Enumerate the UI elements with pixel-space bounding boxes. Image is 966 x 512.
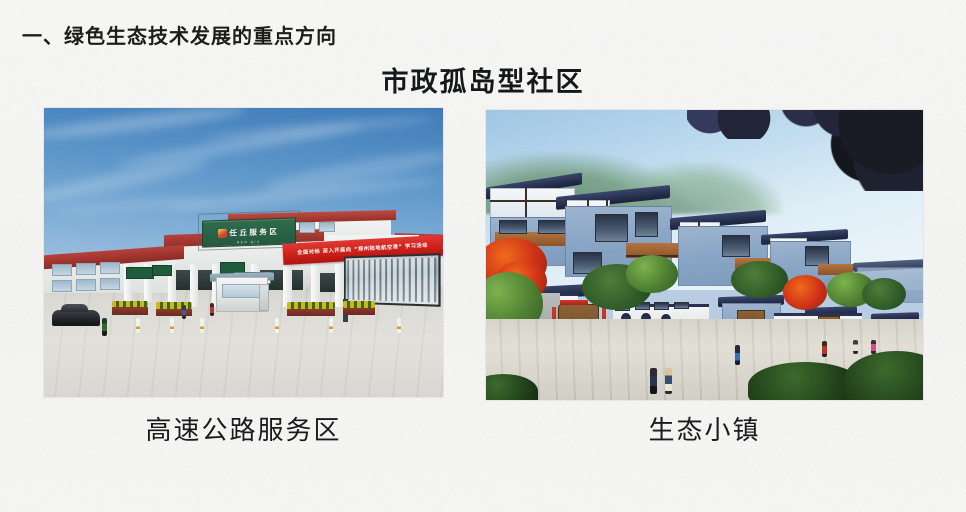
shop-sign — [152, 265, 172, 277]
cloud — [204, 114, 435, 143]
bollard — [170, 318, 174, 333]
window — [76, 279, 96, 291]
guard-booth-door — [259, 284, 269, 311]
window — [319, 222, 335, 233]
red-couplet-header — [560, 300, 588, 305]
service-area-sign: 任丘服务区 REN QIU — [202, 218, 296, 248]
column — [311, 264, 319, 307]
caption-highway-service-area: 高速公路服务区 — [44, 410, 443, 447]
pedestrian — [871, 340, 876, 354]
maple-tree — [783, 275, 827, 310]
shop-sign — [126, 267, 154, 279]
pedestrian — [822, 341, 827, 357]
caption-eco-town: 生态小镇 — [486, 410, 923, 447]
pedestrian-couple — [665, 368, 672, 394]
flower-bed — [112, 301, 148, 308]
column — [190, 264, 198, 307]
pedestrian — [210, 303, 214, 316]
bollard — [275, 318, 279, 333]
window — [52, 264, 72, 276]
pedestrian — [853, 340, 858, 354]
billboard — [344, 254, 440, 308]
service-area-sign-pinyin: REN QIU — [203, 238, 295, 245]
pedestrian — [102, 318, 107, 337]
planter — [156, 309, 192, 317]
wall-decor — [654, 302, 669, 310]
wall-decor — [674, 302, 689, 310]
villa-window — [595, 214, 628, 242]
bollard — [397, 318, 401, 333]
pedestrian — [735, 345, 740, 365]
villa-window — [722, 235, 750, 257]
tree — [731, 261, 788, 299]
foreground-tree-canopy — [687, 110, 801, 139]
bollard — [136, 318, 140, 333]
bollard — [200, 318, 204, 333]
window — [52, 280, 72, 292]
parked-car — [52, 310, 100, 326]
figure-highway-service-area: 任丘服务区 REN QIU 全面对标 深入开展向 “郑州陆地航空港” 学习活动 — [44, 108, 443, 397]
page-title: 市政孤岛型社区 — [0, 60, 966, 99]
flower-bed — [287, 302, 335, 309]
figure-eco-town — [486, 110, 923, 400]
flower-bed — [343, 301, 375, 308]
bollard — [329, 318, 333, 333]
timber-beam — [525, 188, 527, 217]
planter — [343, 307, 375, 315]
column — [283, 264, 291, 307]
tree — [862, 278, 906, 310]
pedestrian-couple — [650, 368, 657, 394]
section-title: 一、绿色生态技术发展的重点方向 — [22, 20, 337, 49]
window — [100, 278, 120, 290]
guard-booth-window — [222, 284, 262, 298]
villa-window — [635, 212, 659, 237]
planter — [112, 307, 148, 315]
flower-bed — [156, 302, 192, 309]
planter — [287, 309, 335, 317]
window — [76, 263, 96, 275]
window — [299, 222, 315, 233]
highway-logo-icon — [218, 229, 227, 238]
pedestrian — [182, 305, 186, 319]
service-area-sign-text: 任丘服务区 — [229, 228, 279, 237]
villa-window — [538, 220, 566, 234]
window — [100, 262, 120, 274]
villa-window — [499, 220, 527, 234]
tree — [626, 255, 678, 293]
